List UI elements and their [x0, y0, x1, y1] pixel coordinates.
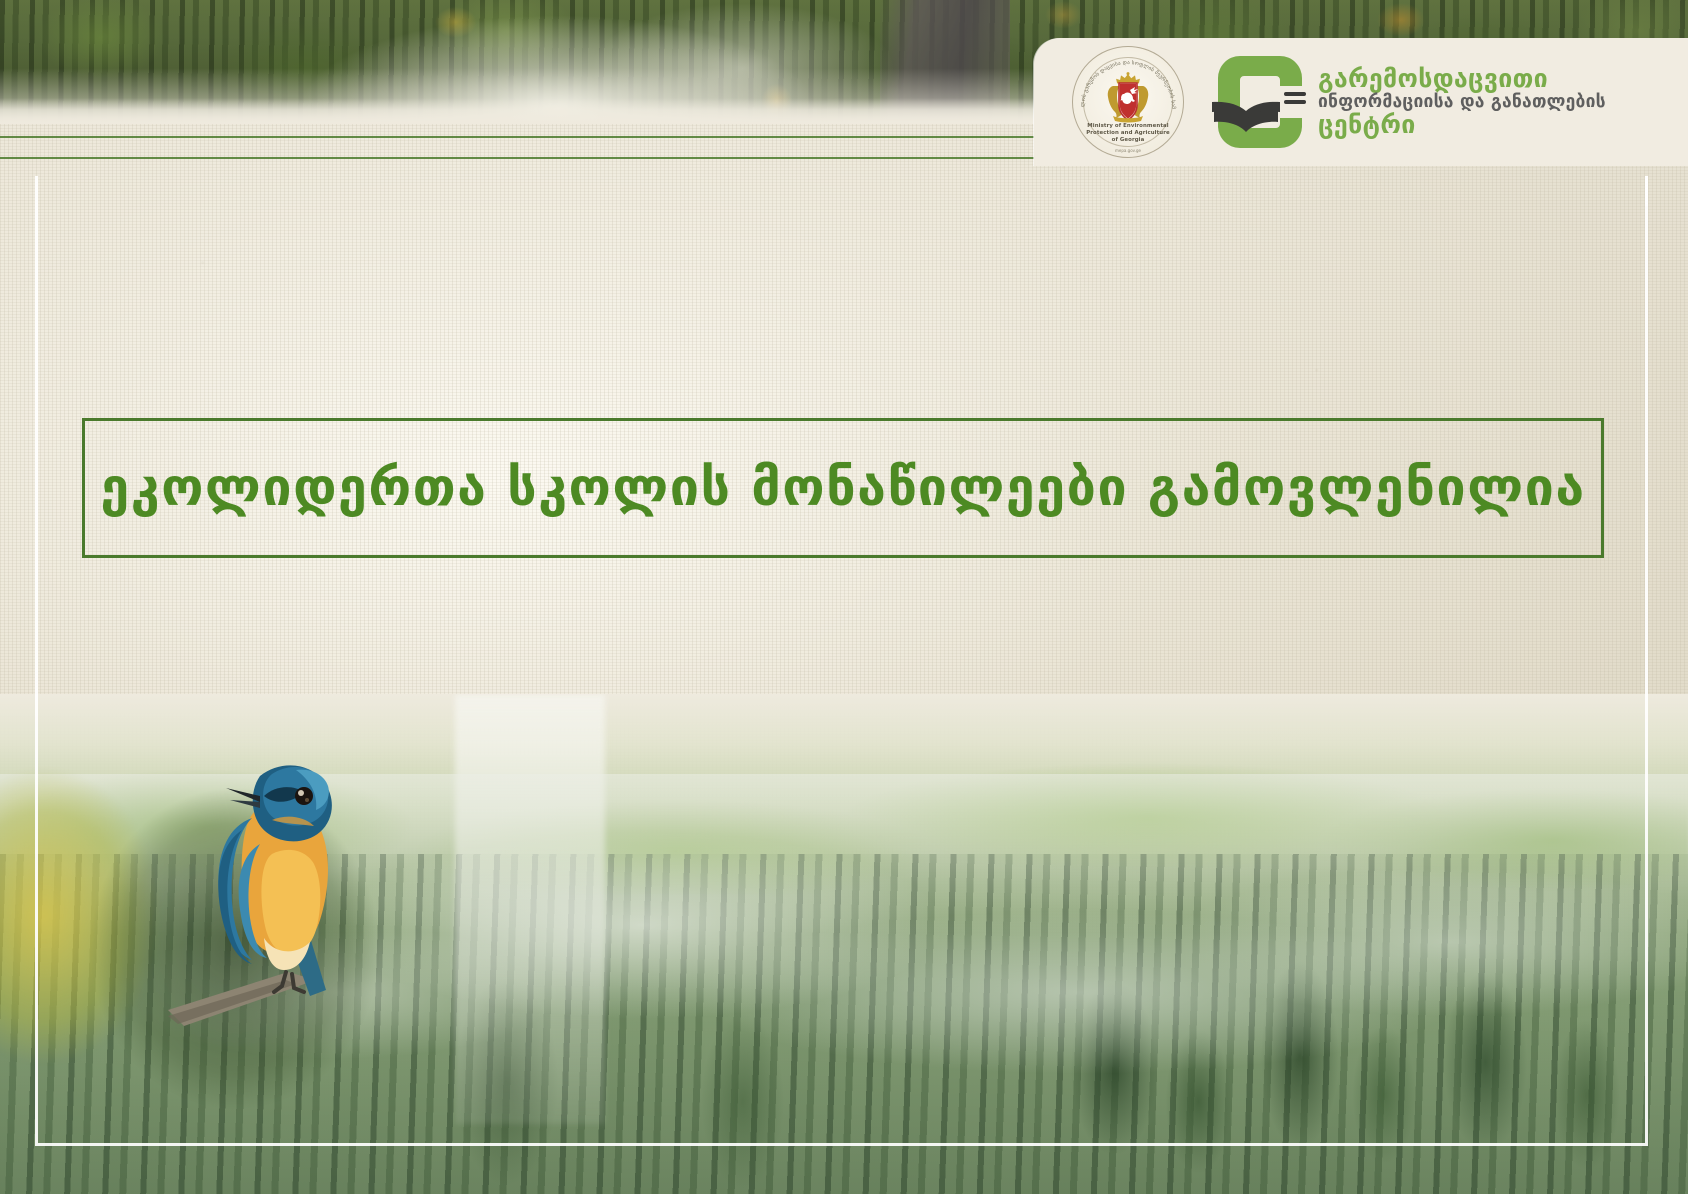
logo-panel: საქართველოს გარემოს დაცვისა და სოფლის მე… — [1034, 38, 1688, 166]
eiec-logo: გარემოსდაცვითი ინფორმაციისა და განათლები… — [1210, 52, 1606, 152]
eiec-line-3: ცენტრი — [1318, 112, 1606, 138]
title-box: ეკოლიდერთა სკოლის მონაწილეები გამოვლენილ… — [82, 418, 1604, 558]
logo-row: საქართველოს გარემოს დაცვისა და სოფლის მე… — [1034, 38, 1688, 166]
ministry-seal: საქართველოს გარემოს დაცვისა და სოფლის მე… — [1072, 46, 1184, 158]
inner-frame-right-stub — [1645, 176, 1648, 206]
poster-root: საქართველოს გარემოს დაცვისა და სოფლის მე… — [0, 0, 1688, 1194]
seal-caption-line3: of Georgia — [1072, 137, 1184, 144]
page-title: ეკოლიდერთა სკოლის მონაწილეები გამოვლენილ… — [100, 458, 1585, 518]
footer-scene — [0, 694, 1688, 1194]
flycatcher-bird-illustration — [168, 734, 408, 1034]
seal-url: mepa.gov.ge — [1072, 148, 1184, 153]
eiec-line-2: ინფორმაციისა და განათლების — [1318, 94, 1606, 112]
eiec-line-1: გარემოსდაცვითი — [1318, 66, 1606, 92]
seal-caption-line2: Protection and Agriculture — [1072, 130, 1184, 137]
eiec-logo-text: გარემოსდაცვითი ინფორმაციისა და განათლები… — [1318, 66, 1606, 138]
header-rule-bottom — [0, 157, 1112, 159]
georgia-coat-of-arms-icon — [1099, 72, 1157, 126]
header-rule-top — [0, 136, 1112, 138]
seal-caption-line1: Ministry of Environmental — [1072, 123, 1184, 130]
eiec-book-mark-icon — [1210, 52, 1306, 152]
seal-caption: Ministry of Environmental Protection and… — [1072, 123, 1184, 144]
